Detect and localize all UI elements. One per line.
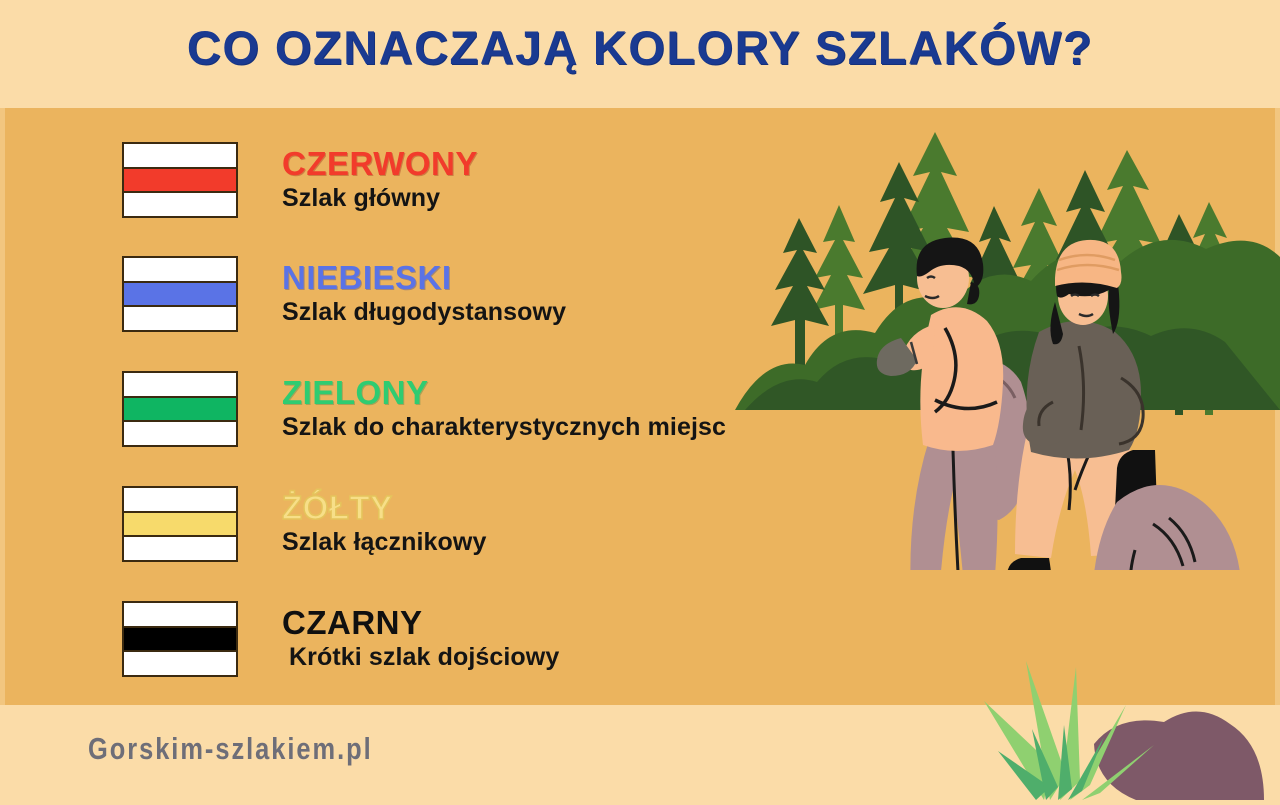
legend-labels: ZIELONY Szlak do charakterystycznych mie…: [282, 376, 726, 441]
marker-stripe-color: [124, 511, 236, 538]
legend-item-niebieski: NIEBIESKI Szlak długodystansowy: [0, 236, 760, 352]
marker-stripe-white-bottom: [124, 307, 236, 330]
marker-stripe-white-bottom: [124, 422, 236, 445]
legend-item-czerwony: CZERWONY Szlak główny: [0, 122, 760, 238]
trail-color-legend: CZERWONY Szlak główny NIEBIESKI Szlak dł…: [0, 108, 760, 705]
marker-stripe-white-bottom: [124, 537, 236, 560]
marker-stripe-color: [124, 167, 236, 194]
hikers-forest-illustration: [735, 110, 1280, 570]
marker-stripe-color: [124, 626, 236, 653]
trail-marker-niebieski: [122, 256, 238, 332]
marker-stripe-white-top: [124, 144, 236, 167]
legend-color-description: Szlak do charakterystycznych miejsc: [282, 413, 726, 442]
legend-labels: CZARNY Krótki szlak dojściowy: [282, 606, 559, 671]
legend-color-name: CZARNY: [282, 606, 559, 641]
footer-website-url: Gorskim-szlakiem.pl: [88, 731, 373, 767]
legend-color-name: NIEBIESKI: [282, 261, 566, 296]
legend-labels: CZERWONY Szlak główny: [282, 147, 478, 212]
marker-stripe-white-bottom: [124, 193, 236, 216]
marker-stripe-white-top: [124, 373, 236, 396]
trail-marker-czerwony: [122, 142, 238, 218]
plant-bush-decoration: [940, 655, 1280, 800]
marker-stripe-color: [124, 281, 236, 308]
page-title: CO OZNACZAJĄ KOLORY SZLAKÓW?: [0, 20, 1280, 75]
legend-item-zolty: ŻÓŁTY Szlak łącznikowy: [0, 466, 760, 582]
trail-marker-czarny: [122, 601, 238, 677]
legend-color-name: ZIELONY: [282, 376, 726, 411]
legend-color-name: CZERWONY: [282, 147, 478, 182]
legend-labels: ŻÓŁTY Szlak łącznikowy: [282, 491, 486, 556]
marker-stripe-white-top: [124, 603, 236, 626]
legend-item-czarny: CZARNY Krótki szlak dojściowy: [0, 581, 760, 697]
legend-item-zielony: ZIELONY Szlak do charakterystycznych mie…: [0, 351, 760, 467]
marker-stripe-white-bottom: [124, 652, 236, 675]
trail-marker-zielony: [122, 371, 238, 447]
legend-color-name: ŻÓŁTY: [282, 491, 486, 526]
marker-stripe-white-top: [124, 488, 236, 511]
legend-color-description: Szlak długodystansowy: [282, 298, 566, 327]
legend-color-description: Szlak łącznikowy: [282, 528, 486, 557]
infographic-poster: CO OZNACZAJĄ KOLORY SZLAKÓW? CZERWONY Sz…: [0, 0, 1280, 800]
legend-color-description: Szlak główny: [282, 184, 478, 213]
marker-stripe-color: [124, 396, 236, 423]
trail-marker-zolty: [122, 486, 238, 562]
marker-stripe-white-top: [124, 258, 236, 281]
legend-labels: NIEBIESKI Szlak długodystansowy: [282, 261, 566, 326]
legend-color-description: Krótki szlak dojściowy: [282, 643, 559, 672]
